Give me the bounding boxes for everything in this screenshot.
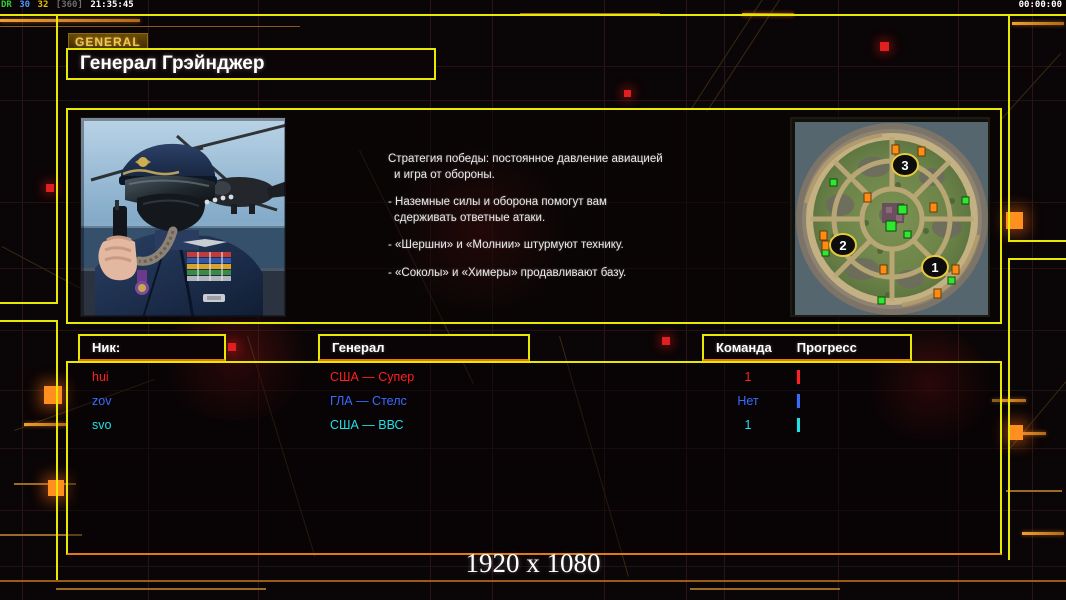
portrait-artwork bbox=[81, 118, 286, 317]
page-title-box: Генерал Грэйнджер bbox=[66, 48, 436, 80]
player-nick: hui bbox=[92, 370, 109, 384]
svg-text:3: 3 bbox=[901, 158, 908, 173]
strategy-text: Стратегия победы: постоянное давление ав… bbox=[388, 152, 818, 281]
minimap-start-marker-3: 3 bbox=[892, 154, 918, 176]
resolution-label: 1920 x 1080 bbox=[0, 548, 1066, 579]
bg-dash bbox=[0, 580, 1066, 582]
column-header-nick: Ник: bbox=[78, 334, 226, 361]
system-clock: 21:35:45 bbox=[89, 0, 134, 10]
minimap-start-marker-2: 2 bbox=[830, 234, 856, 256]
strategy-paragraph-3: - «Шершни» и «Молнии» штурмуют технику. bbox=[388, 238, 818, 254]
strategy-line: - «Соколы» и «Химеры» продавливают базу. bbox=[388, 267, 626, 279]
bg-square bbox=[48, 480, 64, 496]
minimap-preview[interactable]: 3 2 1 bbox=[790, 117, 990, 317]
strategy-line: - «Шершни» и «Молнии» штурмуют технику. bbox=[388, 239, 624, 251]
fps-value-a: 30 bbox=[18, 0, 31, 10]
bg-diagonal-line bbox=[706, 0, 870, 113]
progress-bar-tip bbox=[797, 370, 800, 384]
general-granger-portrait bbox=[80, 117, 286, 317]
strategy-paragraph-4: - «Соколы» и «Химеры» продавливают базу. bbox=[388, 266, 818, 282]
player-progress bbox=[796, 370, 984, 384]
bg-square bbox=[1006, 212, 1023, 229]
svg-text:1: 1 bbox=[931, 260, 938, 275]
player-nick: zov bbox=[92, 394, 111, 408]
minimap-start-marker-1: 1 bbox=[922, 256, 948, 278]
fps-value-b: 32 bbox=[37, 0, 50, 10]
strategy-line: Стратегия победы: постоянное давление ав… bbox=[388, 153, 663, 165]
general-info-panel: Стратегия победы: постоянное давление ав… bbox=[66, 108, 1002, 324]
progress-bar-tip bbox=[797, 418, 800, 432]
bg-square bbox=[228, 343, 236, 351]
bg-square bbox=[880, 42, 889, 51]
table-row[interactable]: zov ГЛА — Стелс Нет bbox=[68, 389, 1000, 413]
player-nick: svo bbox=[92, 418, 111, 432]
bg-square bbox=[46, 184, 54, 192]
column-header-progress-label: Прогресс bbox=[772, 340, 857, 355]
bg-diagonal-line bbox=[1000, 53, 1061, 121]
bg-dash bbox=[1012, 22, 1064, 25]
bg-dash bbox=[1006, 490, 1062, 492]
match-timer: 00:00:00 bbox=[1019, 0, 1062, 10]
page-title: Генерал Грэйнджер bbox=[68, 53, 264, 75]
strategy-line: и игра от обороны. bbox=[388, 168, 818, 184]
bg-dash bbox=[56, 588, 266, 590]
svg-text:2: 2 bbox=[839, 238, 846, 253]
bg-square bbox=[44, 386, 62, 404]
player-progress bbox=[796, 418, 984, 432]
column-header-team-progress: Команда Прогресс bbox=[702, 334, 912, 361]
progress-bar bbox=[796, 417, 798, 433]
table-row[interactable]: hui США — Супер 1 bbox=[68, 365, 1000, 389]
player-progress bbox=[796, 394, 984, 408]
bg-dash bbox=[1022, 532, 1064, 535]
bg-dash bbox=[0, 19, 140, 22]
player-general: США — Супер bbox=[330, 370, 414, 384]
strategy-paragraph-1: Стратегия победы: постоянное давление ав… bbox=[388, 152, 818, 183]
bg-grid-line bbox=[0, 100, 1066, 101]
bg-dash bbox=[690, 588, 840, 590]
table-row[interactable]: svo США — ВВС 1 bbox=[68, 413, 1000, 437]
progress-bar-tip bbox=[797, 394, 800, 408]
strategy-paragraph-2: - Наземные силы и оборона помогут вам сд… bbox=[388, 195, 818, 226]
bg-square bbox=[1008, 425, 1023, 440]
column-header-general-label: Генерал bbox=[320, 340, 384, 355]
strategy-line: - Наземные силы и оборона помогут вам bbox=[388, 196, 607, 208]
minimap-artwork: 3 2 1 bbox=[792, 119, 990, 317]
fps-dr-label: DR bbox=[0, 0, 13, 10]
bg-dash bbox=[0, 26, 300, 27]
player-team: 1 bbox=[718, 370, 778, 384]
player-table-panel: hui США — Супер 1 zov ГЛА — Стелс Нет sv… bbox=[66, 361, 1002, 555]
bg-square bbox=[624, 90, 631, 97]
column-header-team-label: Команда bbox=[704, 340, 772, 355]
progress-bar bbox=[796, 369, 798, 385]
column-header-general: Генерал bbox=[318, 334, 530, 361]
strategy-line: сдерживать ответные атаки. bbox=[388, 211, 818, 227]
top-status-bar: DR 30 32 [360] 21:35:45 00:00:00 bbox=[0, 0, 1066, 14]
column-header-nick-label: Ник: bbox=[80, 340, 120, 355]
fps-bracket: [360] bbox=[55, 0, 84, 10]
progress-bar bbox=[796, 393, 798, 409]
bg-dash bbox=[24, 423, 66, 426]
player-team: 1 bbox=[718, 418, 778, 432]
player-general: США — ВВС bbox=[330, 418, 404, 432]
player-team: Нет bbox=[718, 394, 778, 408]
player-general: ГЛА — Стелс bbox=[330, 394, 407, 408]
bg-square bbox=[662, 337, 670, 345]
bg-diagonal-line bbox=[690, 0, 854, 111]
